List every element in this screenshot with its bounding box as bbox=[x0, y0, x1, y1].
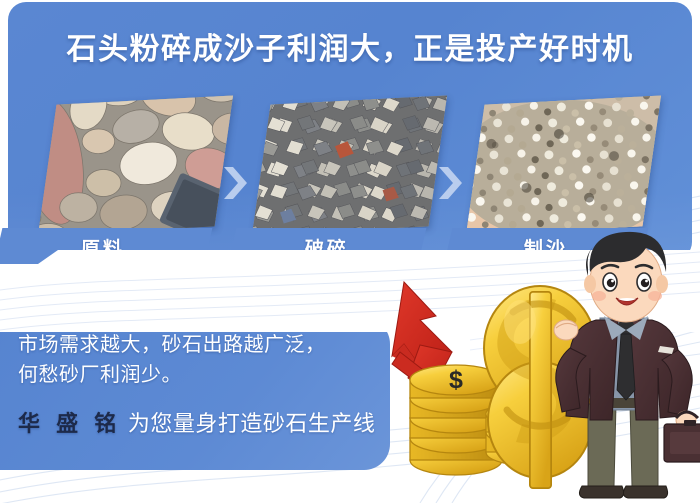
promo-banner: 石头粉碎成沙子利润大，正是投产好时机 bbox=[0, 0, 700, 503]
copy-tagline: 为您量身打造砂石生产线 bbox=[128, 411, 376, 436]
copy-line-1: 市场需求越大，砂石出路越广泛， bbox=[18, 330, 390, 360]
manufactured-sand-illustration bbox=[466, 96, 661, 236]
white-separator-band bbox=[0, 250, 700, 332]
gold-dollar-sign-small: $ bbox=[486, 401, 562, 465]
copy-line-2: 何愁砂厂利润少。 bbox=[18, 360, 390, 390]
step-chevron-1 bbox=[222, 166, 248, 200]
step-chevron-2 bbox=[437, 166, 463, 200]
brand-name: 华 盛 铭 bbox=[18, 411, 121, 436]
coin-dollar-glyph: $ bbox=[449, 366, 463, 394]
copy-tagline-row: 华 盛 铭 为您量身打造砂石生产线 bbox=[18, 406, 390, 438]
gold-coin-stack: $ bbox=[410, 365, 502, 475]
manufactured-sand-photo bbox=[466, 96, 661, 236]
dark-briefcase bbox=[664, 412, 700, 462]
crushed-gravel-photo bbox=[252, 96, 447, 236]
marketing-copy: 市场需求越大，砂石出路越广泛， 何愁砂厂利润少。 华 盛 铭 为您量身打造砂石生… bbox=[18, 330, 390, 438]
page-title: 石头粉碎成沙子利润大，正是投产好时机 bbox=[0, 24, 700, 68]
svg-text:$: $ bbox=[518, 402, 530, 427]
crushed-gravel-illustration bbox=[252, 96, 447, 236]
river-stones-illustration bbox=[38, 96, 233, 236]
river-stones-photo bbox=[38, 96, 233, 236]
